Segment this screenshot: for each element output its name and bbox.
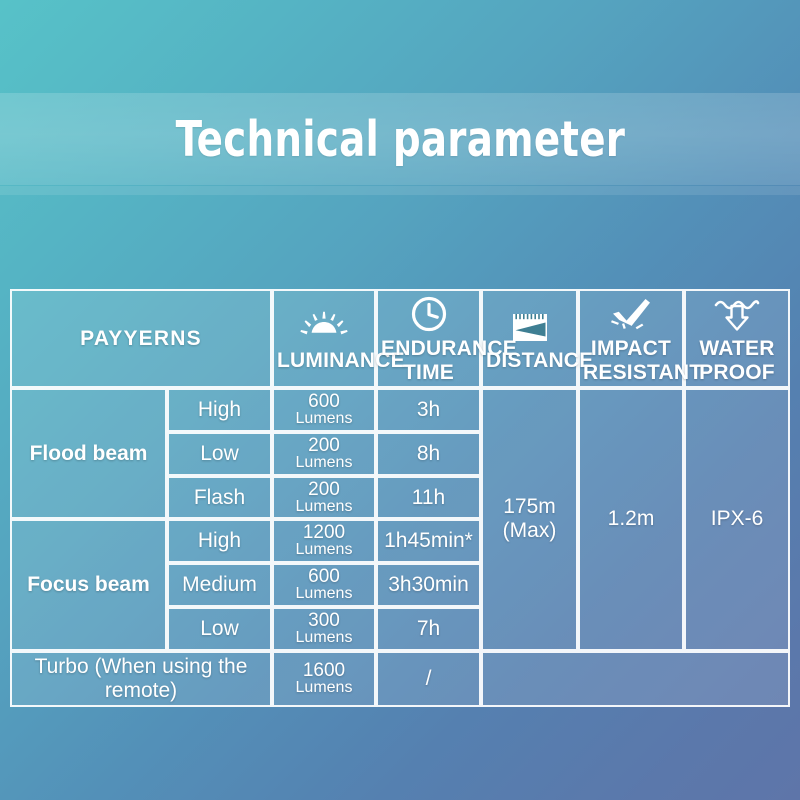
mode-cell: Flash	[167, 476, 272, 520]
luminance-unit: Lumens	[277, 455, 371, 472]
luminance-value: 200	[277, 480, 371, 499]
endurance-cell: 11h	[376, 476, 481, 520]
distance-line2: (Max)	[503, 519, 557, 542]
sunburst-icon	[277, 305, 371, 345]
waterproof-value-cell: IPX-6	[684, 388, 790, 651]
header-impact-line1: IMPACT	[591, 337, 671, 360]
luminance-unit: Lumens	[277, 542, 371, 559]
page-title: Technical parameter	[175, 111, 625, 168]
luminance-cell: 1200 Lumens	[272, 519, 376, 563]
luminance-value: 300	[277, 611, 371, 630]
luminance-unit: Lumens	[277, 630, 371, 647]
table-row: Flood beam High 600 Lumens 3h 175m (Max)…	[10, 388, 790, 432]
distance-value-cell: 175m (Max)	[481, 388, 578, 651]
distance-line1: 175m	[503, 495, 556, 518]
mode-cell: Low	[167, 432, 272, 476]
technical-parameter-table: PAYYERNS	[10, 289, 790, 707]
luminance-unit: Lumens	[277, 499, 371, 516]
luminance-value: 200	[277, 436, 371, 455]
header-water-proof: WATER PROOF	[684, 289, 790, 388]
luminance-cell: 300 Lumens	[272, 607, 376, 651]
luminance-cell: 200 Lumens	[272, 476, 376, 520]
clock-icon	[381, 293, 476, 333]
table-row-turbo: Turbo (When using the remote) 1600 Lumen…	[10, 651, 790, 707]
header-distance-label: DISTANCE	[486, 349, 593, 372]
header-luminance: LUMINANCE	[272, 289, 376, 388]
mode-cell: Low	[167, 607, 272, 651]
luminance-value: 600	[277, 567, 371, 586]
header-impact-resistant: IMPACT RESISTANT	[578, 289, 684, 388]
mode-cell: High	[167, 388, 272, 432]
header-endurance-line2: TIME	[403, 361, 454, 384]
group-label-focus-beam: Focus beam	[10, 519, 167, 650]
brand-cell: PAYYERNS	[10, 289, 272, 388]
luminance-value: 600	[277, 392, 371, 411]
title-banner: Technical parameter	[0, 93, 800, 185]
luminance-unit: Lumens	[277, 680, 371, 697]
mode-cell: Medium	[167, 563, 272, 607]
endurance-cell: 3h30min	[376, 563, 481, 607]
luminance-cell: 200 Lumens	[272, 432, 376, 476]
turbo-empty-cell	[481, 651, 790, 707]
water-drop-icon	[689, 293, 785, 333]
luminance-cell: 600 Lumens	[272, 388, 376, 432]
endurance-cell: 1h45min*	[376, 519, 481, 563]
mode-cell: High	[167, 519, 272, 563]
impact-value-cell: 1.2m	[578, 388, 684, 651]
endurance-cell: 8h	[376, 432, 481, 476]
header-endurance-time: ENDURANCE TIME	[376, 289, 481, 388]
page-root: Technical parameter PAYYERNS	[0, 0, 800, 800]
spec-table-container: PAYYERNS	[10, 289, 790, 696]
endurance-cell: 3h	[376, 388, 481, 432]
header-impact-line2: RESISTANT	[583, 361, 702, 384]
endurance-cell: /	[376, 651, 481, 707]
endurance-cell: 7h	[376, 607, 481, 651]
turbo-label-cell: Turbo (When using the remote)	[10, 651, 272, 707]
luminance-unit: Lumens	[277, 411, 371, 428]
header-water-line1: WATER	[699, 337, 774, 360]
luminance-cell: 1600 Lumens	[272, 651, 376, 707]
luminance-cell: 600 Lumens	[272, 563, 376, 607]
banner-underline-strip	[0, 186, 800, 195]
table-header-row: PAYYERNS	[10, 289, 790, 388]
luminance-unit: Lumens	[277, 586, 371, 603]
luminance-value: 1600	[277, 661, 371, 680]
group-label-flood-beam: Flood beam	[10, 388, 167, 519]
impact-check-icon	[583, 293, 679, 333]
luminance-value: 1200	[277, 523, 371, 542]
header-water-line2: PROOF	[699, 361, 775, 384]
